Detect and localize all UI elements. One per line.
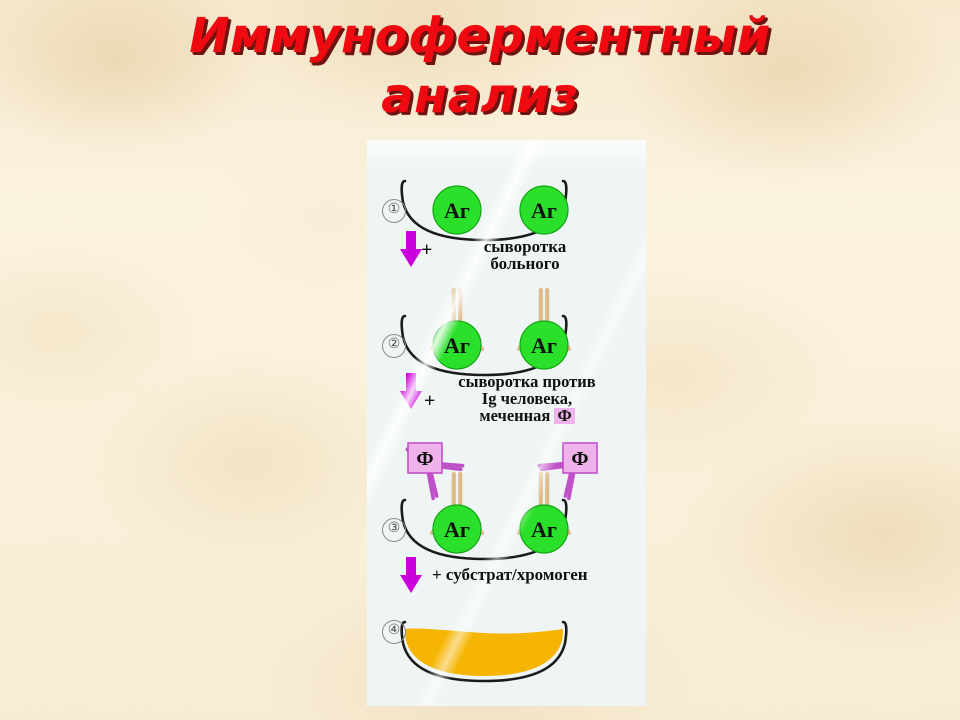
antigen-step-3-left: Аг: [433, 505, 481, 553]
step-number-4: ④: [382, 620, 406, 644]
enzyme-tag-step-3-right: Ф: [563, 443, 597, 473]
enzyme-tag-step-3-left: Ф: [408, 443, 442, 473]
antigen-step-2-right: Аг: [520, 321, 568, 369]
svg-text:Аг: Аг: [444, 333, 470, 358]
step-1-plus: +: [421, 239, 432, 262]
arrow-step-2: [400, 373, 422, 409]
step-2-enzyme-tag-label: Ф: [554, 408, 574, 425]
svg-text:Аг: Аг: [531, 333, 557, 358]
step-number-1: ①: [382, 199, 406, 223]
step-3-caption: + субстрат/хромоген: [432, 566, 632, 583]
step-1-caption: сыворотка больного: [440, 238, 610, 273]
step-2-caption: сыворотка противIg человека,меченная Ф: [432, 374, 622, 424]
svg-text:Аг: Аг: [531, 198, 557, 223]
svg-text:Аг: Аг: [444, 198, 470, 223]
page-title: Иммуноферментный анализ: [0, 6, 960, 126]
svg-text:Ф: Ф: [416, 448, 433, 470]
antigen-step-1-left: Аг: [433, 186, 481, 234]
antigen-step-3-right: Аг: [520, 505, 568, 553]
arrow-step-3: [400, 557, 422, 593]
step-number-3: ③: [382, 518, 406, 542]
antigen-step-2-left: Аг: [433, 321, 481, 369]
step-number-2: ②: [382, 334, 406, 358]
well-step-4: [402, 622, 567, 681]
antigen-step-1-right: Аг: [520, 186, 568, 234]
svg-text:Ф: Ф: [571, 448, 588, 470]
step-2-caption-line3-prefix: меченная: [479, 406, 554, 425]
arrow-step-1: [400, 231, 422, 267]
svg-text:Аг: Аг: [444, 517, 470, 542]
svg-text:Аг: Аг: [531, 517, 557, 542]
